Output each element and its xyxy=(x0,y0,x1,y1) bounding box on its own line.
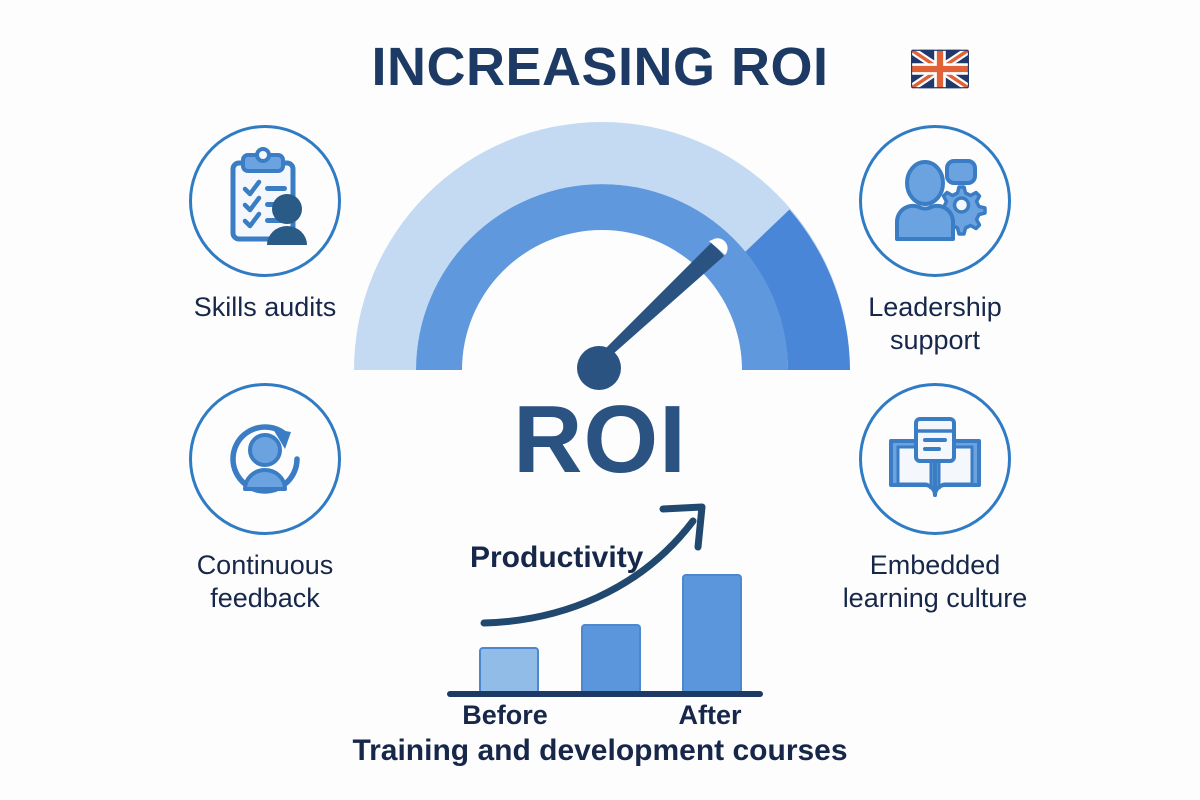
chart-xlabel: Training and development courses xyxy=(300,734,900,768)
clipboard-checklist-person-icon xyxy=(189,125,341,277)
feature-icon-wrap xyxy=(189,383,341,535)
feature-label: Continuous feedback xyxy=(150,549,380,615)
feature-label-line1: Leadership xyxy=(820,291,1050,324)
page-title: INCREASING ROI xyxy=(0,36,1200,98)
feature-label-line2: support xyxy=(820,324,1050,357)
feature-leadership-support[interactable]: Leadership support xyxy=(820,125,1050,357)
feature-label-line2: feedback xyxy=(150,582,380,615)
feature-skills-audits[interactable]: Skills audits xyxy=(150,125,380,324)
gauge-needle xyxy=(577,238,728,390)
feature-label: Skills audits xyxy=(150,291,380,324)
tick-label-before: Before xyxy=(440,700,570,731)
bar-after xyxy=(683,575,741,693)
person-refresh-cycle-icon xyxy=(189,383,341,535)
open-book-card-icon xyxy=(859,383,1011,535)
tick-label-after: After xyxy=(645,700,775,731)
feature-icon-wrap xyxy=(859,383,1011,535)
chart-tick-labels: Before After xyxy=(440,700,770,736)
feature-label-line1: Embedded xyxy=(820,549,1050,582)
feature-continuous-feedback[interactable]: Continuous feedback xyxy=(150,383,380,615)
feature-label-line1: Continuous xyxy=(150,549,380,582)
person-gear-icon xyxy=(859,125,1011,277)
feature-icon-wrap xyxy=(189,125,341,277)
bar-middle xyxy=(582,625,640,693)
feature-label: Leadership support xyxy=(820,291,1050,357)
feature-icon-wrap xyxy=(859,125,1011,277)
roi-center-label: ROI xyxy=(400,392,800,488)
infographic-canvas: INCREASING ROI ROI xyxy=(0,0,1200,800)
uk-flag-icon xyxy=(911,49,969,89)
feature-label: Embedded learning culture xyxy=(820,549,1050,615)
feature-embedded-learning-culture[interactable]: Embedded learning culture xyxy=(820,383,1050,615)
bar-before xyxy=(480,648,538,693)
gauge-icon xyxy=(352,120,852,390)
feature-label-line2: learning culture xyxy=(820,582,1050,615)
chart-title: Productivity xyxy=(470,541,644,574)
productivity-bar-chart: Productivity xyxy=(440,495,770,710)
